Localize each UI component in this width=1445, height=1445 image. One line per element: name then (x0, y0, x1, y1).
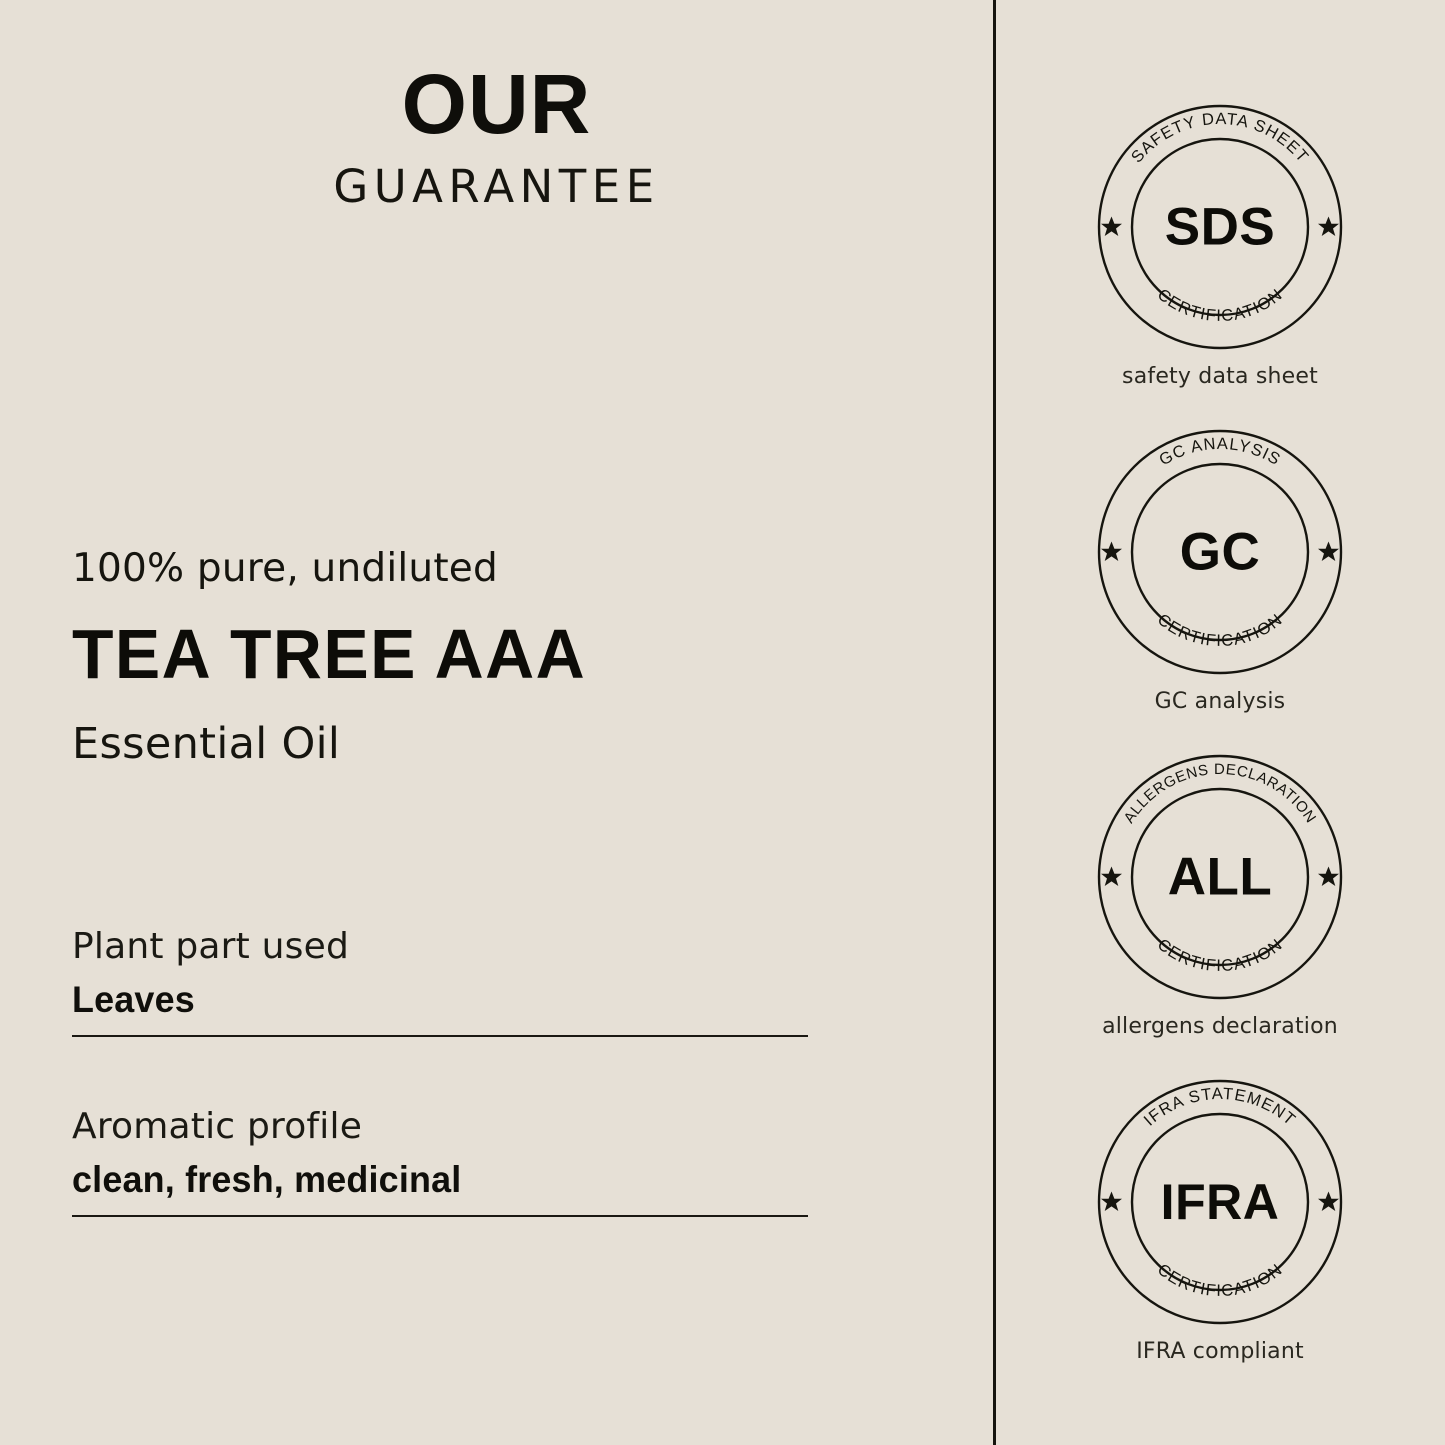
seal-acronym: SDS (1165, 198, 1275, 257)
star-icon (1318, 867, 1339, 887)
certification-badge-column: SAFETY DATA SHEET CERTIFICATION SDS safe… (995, 0, 1445, 1445)
certification-badge: SAFETY DATA SHEET CERTIFICATION SDS safe… (995, 104, 1445, 390)
svg-text:CERTIFICATION: CERTIFICATION (1154, 285, 1286, 325)
product-info: 100% pure, undiluted TEA TREE AAA Essent… (72, 545, 872, 771)
product-name: TEA TREE AAA (72, 610, 848, 700)
badge-caption: IFRA compliant (995, 1339, 1445, 1365)
certification-seal-icon: ALLERGENS DECLARATION CERTIFICATION ALL (1097, 754, 1343, 1000)
attribute-label: Aromatic profile (72, 1105, 808, 1149)
product-purity-text: 100% pure, undiluted (72, 545, 872, 594)
badge-caption: GC analysis (995, 689, 1445, 715)
star-icon (1101, 1192, 1122, 1212)
certification-seal-icon: IFRA STATEMENT CERTIFICATION IFRA (1097, 1079, 1343, 1325)
attribute-label: Plant part used (72, 925, 808, 969)
certification-badge: IFRA STATEMENT CERTIFICATION IFRA IFRA c… (995, 1079, 1445, 1365)
page-title-line1: OUR (0, 62, 993, 148)
badge-caption: safety data sheet (995, 364, 1445, 390)
seal-arc-bottom-text: CERTIFICATION (1154, 285, 1286, 325)
left-content-panel: OUR GUARANTEE 100% pure, undiluted TEA T… (0, 0, 993, 1445)
svg-text:ALLERGENS DECLARATION: ALLERGENS DECLARATION (1121, 761, 1320, 826)
seal-acronym: ALL (1168, 848, 1273, 907)
attribute-value: Leaves (72, 977, 786, 1023)
svg-text:IFRA STATEMENT: IFRA STATEMENT (1141, 1085, 1300, 1130)
star-icon (1318, 217, 1339, 237)
seal-acronym: GC (1180, 523, 1261, 582)
seal-arc-top-text: ALLERGENS DECLARATION (1121, 761, 1320, 826)
star-icon (1101, 867, 1122, 887)
seal-acronym: IFRA (1161, 1174, 1280, 1230)
product-type: Essential Oil (72, 719, 872, 771)
page-title: OUR GUARANTEE (0, 62, 993, 214)
product-attributes: Plant part used Leaves Aromatic profile … (72, 925, 808, 1217)
attribute-row: Aromatic profile clean, fresh, medicinal (72, 1105, 808, 1217)
certification-seal-icon: GC ANALYSIS CERTIFICATION GC (1097, 429, 1343, 675)
certification-badge: ALLERGENS DECLARATION CERTIFICATION ALL … (995, 754, 1445, 1040)
star-icon (1318, 542, 1339, 562)
star-icon (1101, 542, 1122, 562)
seal-arc-bottom-text: CERTIFICATION (1154, 610, 1286, 650)
certification-seal-icon: SAFETY DATA SHEET CERTIFICATION SDS (1097, 104, 1343, 350)
seal-arc-top-text: IFRA STATEMENT (1141, 1085, 1300, 1130)
attribute-value: clean, fresh, medicinal (72, 1157, 786, 1203)
seal-arc-bottom-text: CERTIFICATION (1154, 935, 1286, 975)
svg-text:CERTIFICATION: CERTIFICATION (1154, 935, 1286, 975)
svg-text:CERTIFICATION: CERTIFICATION (1154, 610, 1286, 650)
page-title-line2: GUARANTEE (0, 160, 993, 214)
seal-arc-bottom-text: CERTIFICATION (1154, 1260, 1286, 1300)
guarantee-graphic: OUR GUARANTEE 100% pure, undiluted TEA T… (0, 0, 1445, 1445)
attribute-row: Plant part used Leaves (72, 925, 808, 1037)
star-icon (1101, 217, 1122, 237)
svg-text:CERTIFICATION: CERTIFICATION (1154, 1260, 1286, 1300)
star-icon (1318, 1192, 1339, 1212)
badge-caption: allergens declaration (995, 1014, 1445, 1040)
certification-badge: GC ANALYSIS CERTIFICATION GC GC analysis (995, 429, 1445, 715)
